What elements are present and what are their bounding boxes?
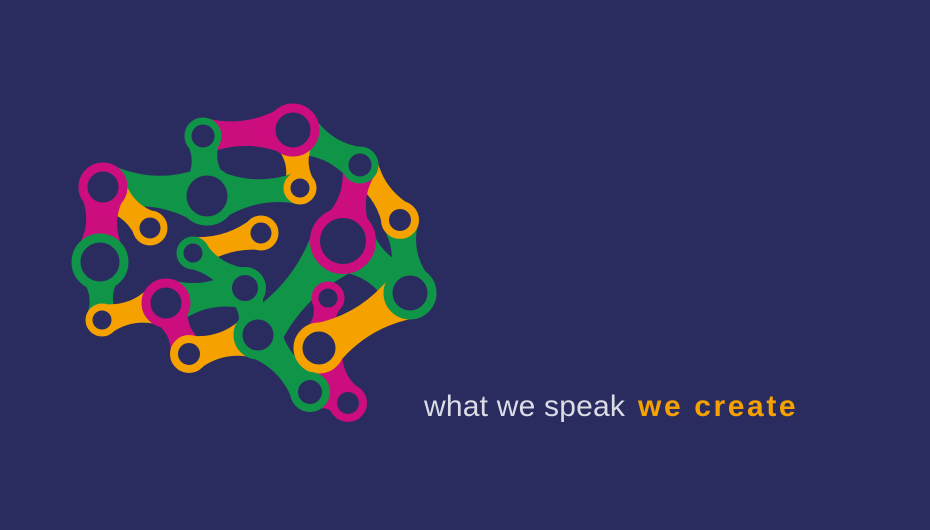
logo-node-ring <box>388 271 432 315</box>
logo-node-ring <box>174 339 204 369</box>
logo-node-ring <box>315 285 341 311</box>
tagline: what we speak we create <box>424 392 798 430</box>
logo-node-ring <box>294 376 326 408</box>
brain-logo-svg <box>60 95 440 435</box>
logo-node-ring <box>83 167 123 207</box>
logo-node-ring <box>182 171 232 221</box>
logo-node-ring <box>298 327 340 369</box>
logo-node-ring <box>385 205 415 235</box>
logo-node-ring <box>180 240 206 266</box>
logo-node-ring <box>188 121 218 151</box>
logo-node-ring <box>271 108 315 152</box>
tagline-bold-text: we create <box>638 392 798 422</box>
logo-node-ring <box>345 150 375 180</box>
logo-node-ring <box>287 175 313 201</box>
logo-node-ring <box>315 213 371 269</box>
splash-canvas: what we speak we create <box>0 0 930 530</box>
neural-network-brain-logo <box>60 95 440 435</box>
logo-node-ring <box>247 219 275 247</box>
tagline-light-text: what we speak <box>424 392 625 422</box>
logo-node-ring <box>228 271 262 305</box>
logo-node-ring <box>76 238 124 286</box>
logo-node-ring <box>89 307 115 333</box>
logo-node-ring <box>333 388 363 418</box>
logo-node-ring <box>146 283 186 323</box>
logo-node-ring <box>136 214 164 242</box>
logo-node-ring <box>238 315 278 355</box>
